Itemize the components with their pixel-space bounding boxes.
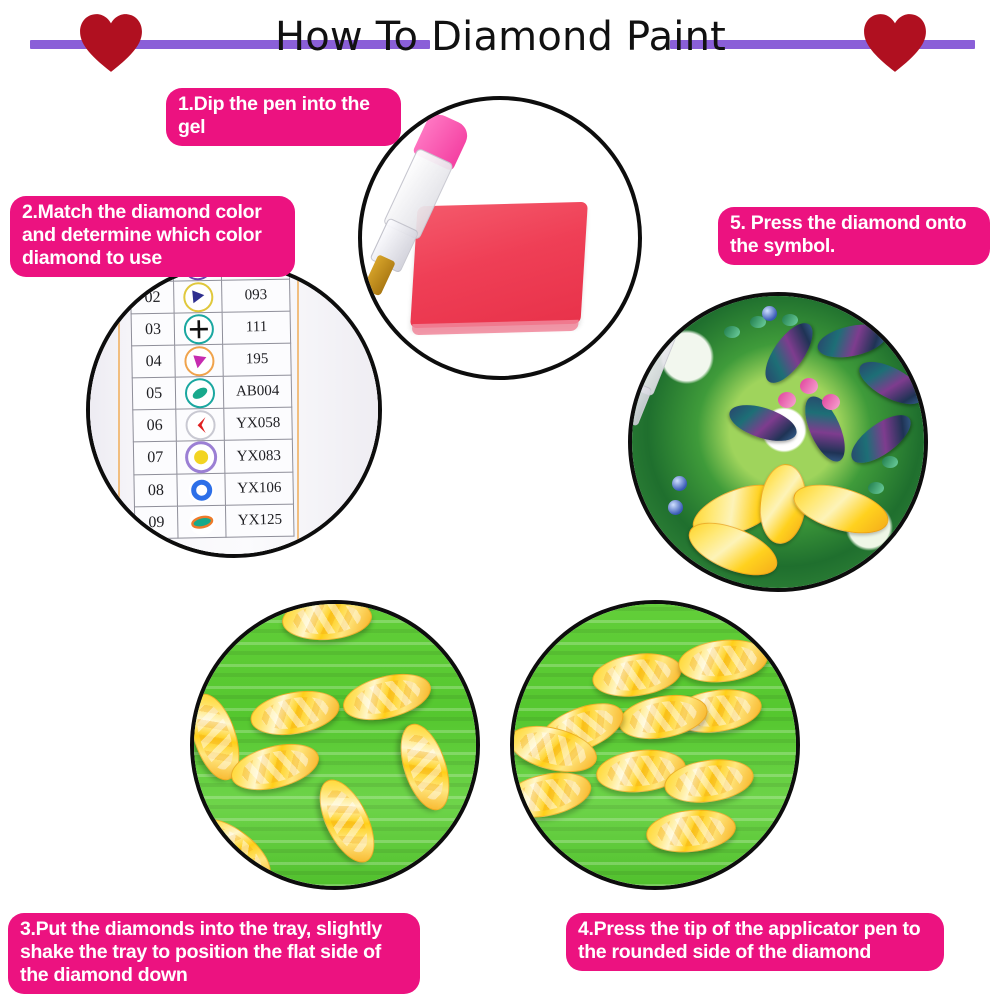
gem	[822, 394, 840, 410]
oval-teal-icon	[176, 376, 225, 409]
table-row: 04 195	[132, 343, 292, 378]
step-2-label: 2.Match the diamond color and determine …	[10, 196, 295, 277]
gem	[782, 314, 798, 326]
page-title: How To Diamond Paint	[0, 14, 1001, 60]
color-chart-table: 020 02 093 03	[129, 262, 294, 539]
chart-no: 09	[134, 506, 178, 539]
step-4-label: 4.Press the tip of the applicator pen to…	[566, 913, 944, 971]
chart-code: 093	[222, 279, 290, 312]
chart-no: 04	[132, 345, 176, 378]
chart-code: YX058	[224, 407, 292, 440]
chart-margin-line-right	[297, 262, 299, 558]
step-2-image: 020 02 093 03	[86, 262, 382, 558]
triangle-navy-icon	[174, 280, 223, 313]
triangle-magenta-icon	[175, 344, 224, 377]
pick-up-diamond-scene	[514, 604, 796, 886]
gem	[882, 456, 898, 468]
press-diamond-scene	[632, 296, 924, 588]
dot-yellow-icon	[177, 440, 226, 474]
step-3-image	[190, 600, 480, 890]
step-1-image	[358, 96, 642, 380]
gem	[778, 392, 796, 408]
table-row: 06 YX058	[133, 407, 293, 442]
diamond-tray-scene	[194, 604, 476, 886]
color-chart-scene: 020 02 093 03	[86, 262, 382, 558]
table-row: 05 AB004	[132, 375, 292, 410]
step-3-label: 3.Put the diamonds into the tray, slight…	[8, 913, 420, 994]
chart-code: AB004	[224, 375, 292, 408]
plus-teal-icon	[174, 312, 223, 345]
chart-no: 06	[133, 409, 177, 442]
gem	[868, 482, 884, 494]
ring-blue-icon	[177, 473, 226, 506]
chart-no: 07	[133, 441, 177, 475]
step-1-label: 1.Dip the pen into the gel	[166, 88, 401, 146]
chart-code: 111	[222, 311, 290, 344]
chart-no: 08	[134, 474, 178, 507]
chart-code: YX125	[226, 504, 294, 537]
table-row: 07 YX083	[133, 439, 293, 475]
chart-no: 02	[131, 281, 175, 314]
chart-code: YX083	[225, 439, 293, 473]
header-banner: How To Diamond Paint	[0, 0, 1001, 78]
gem	[762, 306, 777, 321]
gel-dip-scene	[362, 100, 638, 376]
step-4-image	[510, 600, 800, 890]
table-row: 09 YX125	[134, 504, 294, 539]
table-row: 08 YX106	[134, 472, 294, 507]
gel-pad	[410, 202, 588, 328]
step-5-image	[628, 292, 928, 592]
leaf-teal-icon	[178, 505, 227, 538]
chart-no: 03	[131, 313, 175, 346]
chart-margin-line-left	[118, 262, 120, 558]
gem	[668, 500, 683, 515]
chart-no: 05	[132, 377, 176, 410]
gem	[672, 476, 687, 491]
gem	[800, 378, 818, 394]
chevron-red-icon	[176, 408, 225, 441]
chart-code: 195	[223, 343, 291, 376]
gem	[724, 326, 740, 338]
step-5-label: 5. Press the diamond onto the symbol.	[718, 207, 990, 265]
table-row: 03 111	[131, 311, 291, 346]
table-row: 02 093	[131, 279, 291, 314]
chart-code: YX106	[225, 472, 293, 505]
